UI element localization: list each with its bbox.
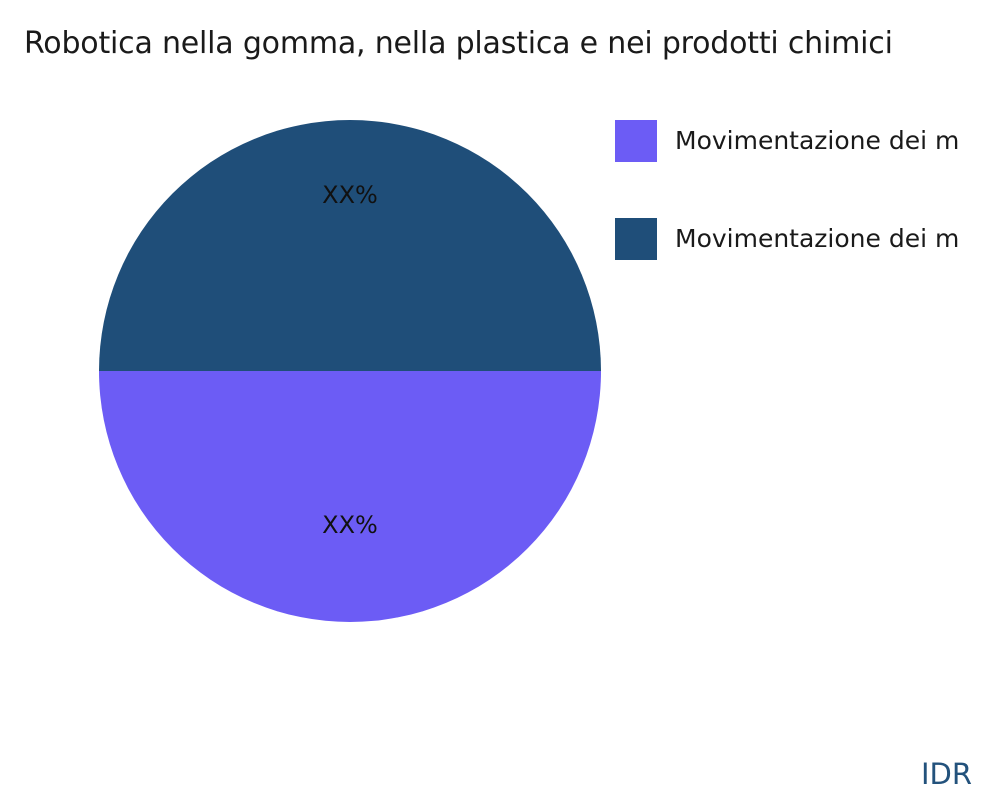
legend-item-1[interactable]: Movimentazione dei m <box>615 218 1000 260</box>
pie-slice-0[interactable] <box>99 371 601 622</box>
pie-chart-figure: Robotica nella gomma, nella plastica e n… <box>0 0 1000 800</box>
chart-title: Robotica nella gomma, nella plastica e n… <box>24 24 1000 64</box>
pie-slice-1[interactable] <box>99 120 601 371</box>
legend-item-label-0: Movimentazione dei m <box>675 126 959 156</box>
legend-item-0[interactable]: Movimentazione dei m <box>615 120 1000 162</box>
legend-color-swatch-icon-0 <box>615 120 657 162</box>
legend-color-swatch-icon-1 <box>615 218 657 260</box>
legend-item-label-1: Movimentazione dei m <box>675 224 959 254</box>
pie-chart-plot-area: XX% XX% <box>99 120 601 622</box>
pie-slice-label-0: XX% <box>322 511 378 539</box>
idr-watermark: IDR <box>921 757 972 791</box>
chart-legend: Movimentazione dei m Movimentazione dei … <box>615 120 1000 316</box>
pie-slice-label-1: XX% <box>322 181 378 209</box>
